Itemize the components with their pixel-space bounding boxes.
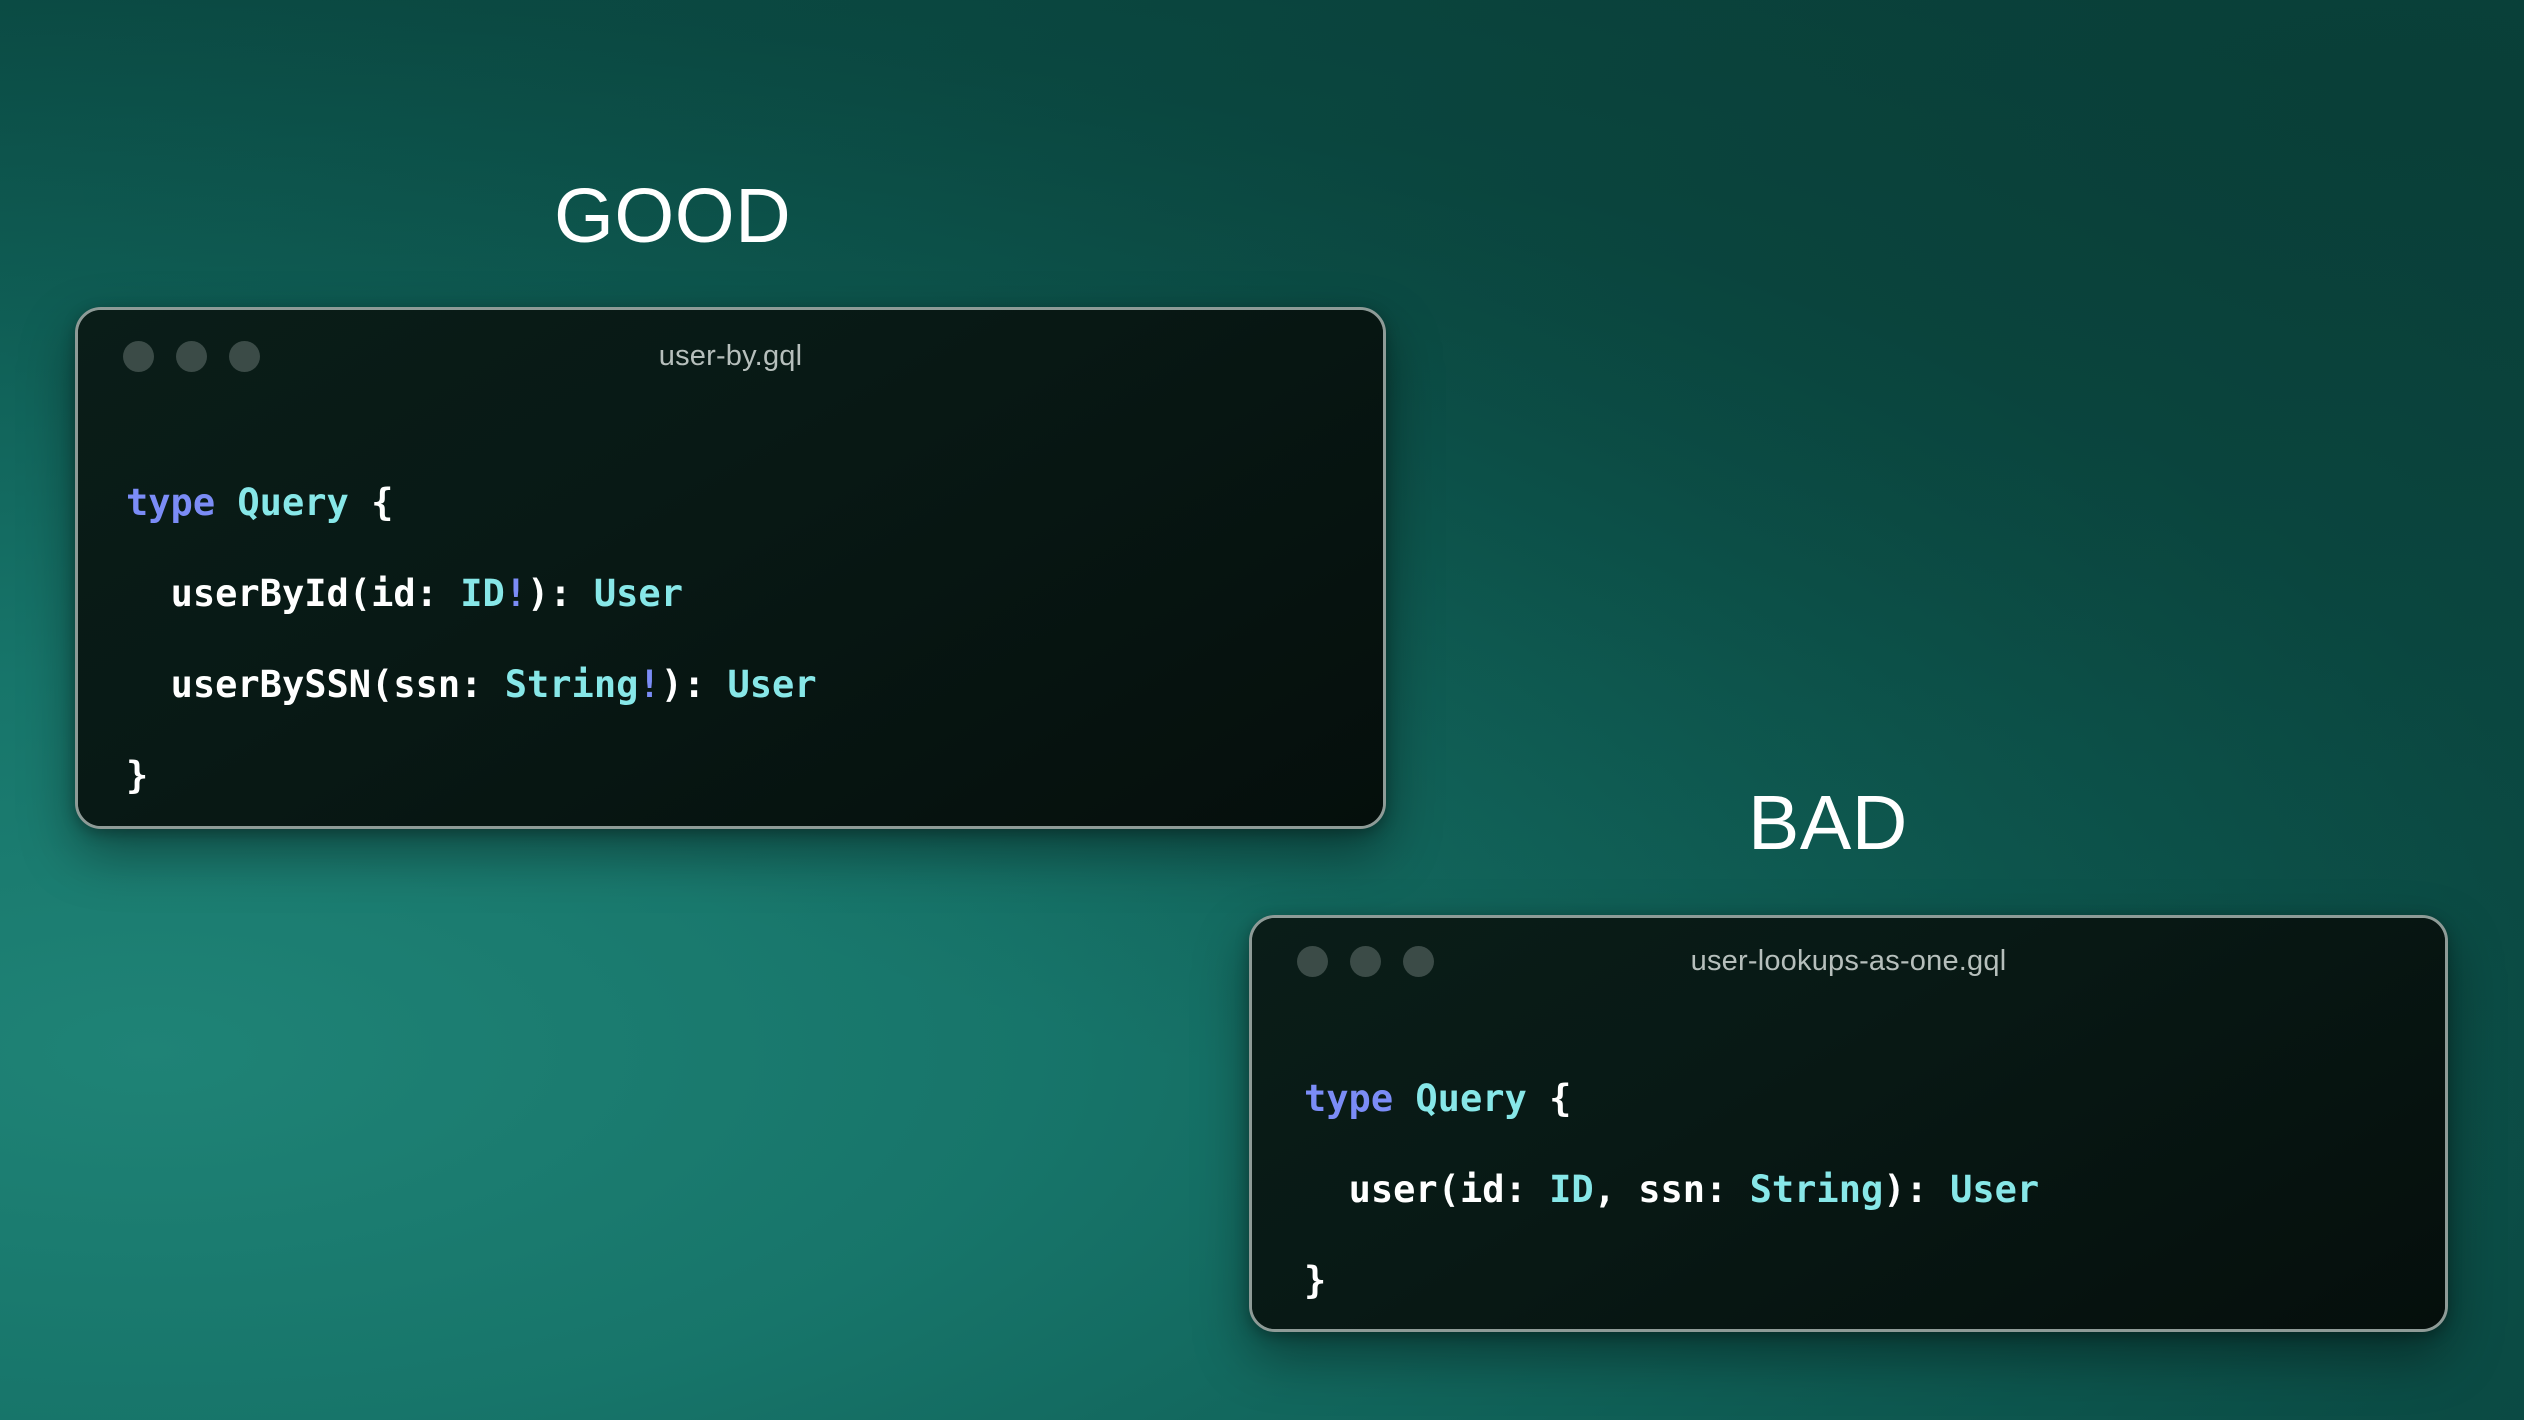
token-space	[215, 481, 237, 524]
token-paren: (	[349, 572, 371, 615]
token-type: ID	[460, 572, 505, 615]
minimize-dot-icon[interactable]	[176, 341, 207, 372]
token-paren: )	[661, 663, 683, 706]
titlebar-bad: user-lookups-as-one.gql	[1252, 918, 2445, 1004]
token-colon: :	[549, 572, 594, 615]
token-indent	[126, 572, 171, 615]
token-space	[1393, 1077, 1415, 1120]
code-block-good: type Query { userById(id: ID!): User use…	[78, 402, 1383, 829]
token-paren: )	[1883, 1168, 1905, 1211]
token-arg: ssn	[1638, 1168, 1705, 1211]
token-colon: :	[1705, 1168, 1750, 1211]
close-dot-icon[interactable]	[1297, 946, 1328, 977]
token-arg: id	[1460, 1168, 1505, 1211]
code-window-good: user-by.gql type Query { userById(id: ID…	[75, 307, 1386, 829]
token-paren: (	[371, 663, 393, 706]
section-label-good: GOOD	[554, 178, 791, 255]
token-type: Query	[237, 481, 348, 524]
code-block-bad: type Query { user(id: ID, ssn: String): …	[1252, 1004, 2445, 1332]
token-field: userBySSN	[171, 663, 371, 706]
traffic-lights-good	[123, 341, 260, 372]
token-field: user	[1349, 1168, 1438, 1211]
close-dot-icon[interactable]	[123, 341, 154, 372]
token-return-type: User	[594, 572, 683, 615]
token-field: userById	[171, 572, 349, 615]
code-line: userBySSN(ssn: String!): User	[126, 662, 1383, 708]
token-colon: :	[683, 663, 728, 706]
code-line: userById(id: ID!): User	[126, 571, 1383, 617]
token-arg: id	[371, 572, 416, 615]
maximize-dot-icon[interactable]	[229, 341, 260, 372]
token-colon: :	[1505, 1168, 1550, 1211]
section-label-bad: BAD	[1748, 785, 1908, 862]
token-keyword: type	[1304, 1077, 1393, 1120]
token-non-null: !	[505, 572, 527, 615]
code-line: type Query {	[1304, 1076, 2445, 1122]
titlebar-good: user-by.gql	[78, 310, 1383, 402]
token-return-type: User	[1950, 1168, 2039, 1211]
token-brace: }	[126, 754, 148, 797]
token-brace: {	[1549, 1077, 1571, 1120]
token-keyword: type	[126, 481, 215, 524]
token-indent	[126, 663, 171, 706]
token-colon: :	[1906, 1168, 1951, 1211]
token-space	[1527, 1077, 1549, 1120]
token-return-type: User	[728, 663, 817, 706]
token-comma: ,	[1594, 1168, 1639, 1211]
maximize-dot-icon[interactable]	[1403, 946, 1434, 977]
token-non-null: !	[638, 663, 660, 706]
token-type: Query	[1415, 1077, 1526, 1120]
code-line: type Query {	[126, 480, 1383, 526]
token-paren: (	[1438, 1168, 1460, 1211]
token-space	[349, 481, 371, 524]
token-type: String	[505, 663, 639, 706]
token-brace: {	[371, 481, 393, 524]
token-paren: )	[527, 572, 549, 615]
token-type: String	[1750, 1168, 1884, 1211]
code-line: user(id: ID, ssn: String): User	[1304, 1167, 2445, 1213]
token-brace: }	[1304, 1259, 1326, 1302]
token-colon: :	[416, 572, 461, 615]
code-window-bad: user-lookups-as-one.gql type Query { use…	[1249, 915, 2448, 1332]
minimize-dot-icon[interactable]	[1350, 946, 1381, 977]
window-title-good: user-by.gql	[78, 340, 1383, 373]
code-line: }	[1304, 1258, 2445, 1304]
token-arg: ssn	[393, 663, 460, 706]
token-colon: :	[460, 663, 505, 706]
traffic-lights-bad	[1297, 946, 1434, 977]
token-indent	[1304, 1168, 1349, 1211]
token-type: ID	[1549, 1168, 1594, 1211]
code-line: }	[126, 753, 1383, 799]
